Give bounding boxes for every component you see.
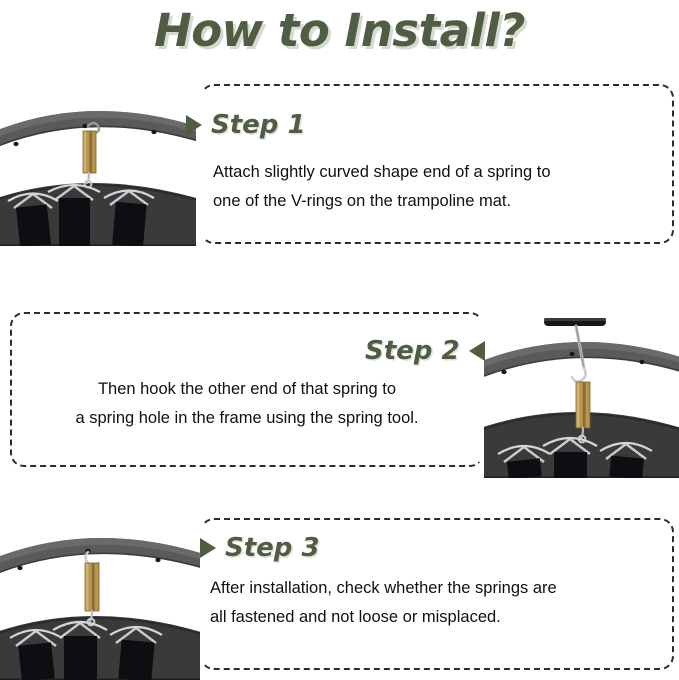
step-2-body: Then hook the other end of that spring t…	[16, 375, 478, 433]
triangle-right-icon	[200, 538, 216, 558]
step-1-body-line-2: one of the V-rings on the trampoline mat…	[213, 187, 665, 216]
spring-hanging-over-v-rings-graphic	[0, 88, 196, 246]
step-3-body-line-1: After installation, check whether the sp…	[210, 574, 668, 603]
step-3-body: After installation, check whether the sp…	[210, 574, 668, 632]
spring-installed-graphic	[0, 516, 200, 680]
step-1-body-line-1: Attach slightly curved shape end of a sp…	[213, 158, 665, 187]
page-title: How to Install?	[0, 4, 679, 57]
step-1-body: Attach slightly curved shape end of a sp…	[213, 158, 665, 216]
step-1-heading-label: Step 1	[211, 110, 306, 140]
step-1-illustration	[0, 88, 196, 246]
step-3-illustration	[0, 516, 200, 680]
step-3-body-line-2: all fastened and not loose or misplaced.	[210, 603, 668, 632]
step-3-heading: Step 3	[200, 533, 320, 563]
how-to-install-infographic: How to Install?	[0, 0, 679, 680]
step-2-body-line-1: Then hook the other end of that spring t…	[16, 375, 478, 404]
step-2-illustration	[484, 306, 679, 478]
step-1-heading: Step 1	[186, 110, 306, 140]
triangle-right-icon	[186, 115, 202, 135]
step-2-body-line-2: a spring hole in the frame using the spr…	[16, 404, 478, 433]
step-2-heading: Step 2	[365, 336, 485, 366]
triangle-left-icon	[469, 341, 485, 361]
step-2-heading-label: Step 2	[365, 336, 460, 366]
step-3-heading-label: Step 3	[225, 533, 320, 563]
spring-tool-pulling-spring-to-frame-graphic	[484, 306, 679, 478]
